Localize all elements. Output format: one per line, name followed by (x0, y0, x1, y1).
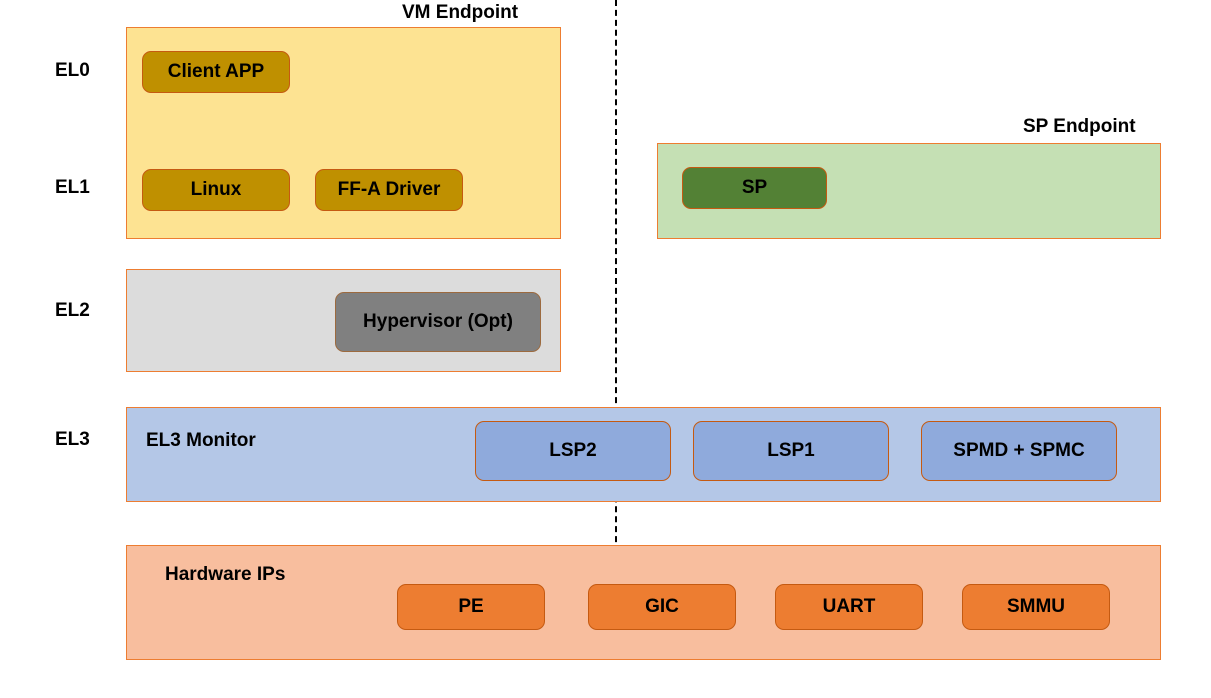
box-spmd-spmc[interactable]: SPMD + SPMC (921, 421, 1117, 481)
box-uart[interactable]: UART (775, 584, 923, 630)
box-hypervisor[interactable]: Hypervisor (Opt) (335, 292, 541, 352)
box-ffa-driver[interactable]: FF-A Driver (315, 169, 463, 211)
el3-panel: EL3 Monitor LSP2 LSP1 SPMD + SPMC (126, 407, 1161, 502)
el-label-el0: EL0 (55, 60, 90, 82)
box-smmu[interactable]: SMMU (962, 584, 1110, 630)
el-label-el2: EL2 (55, 300, 90, 322)
el-label-el1: EL1 (55, 177, 90, 199)
box-linux[interactable]: Linux (142, 169, 290, 211)
hardware-ips-title: Hardware IPs (165, 564, 285, 586)
vm-endpoint-panel: Client APP Linux FF-A Driver (126, 27, 561, 239)
architecture-diagram: VM Endpoint SP Endpoint EL0 EL1 EL2 EL3 … (0, 0, 1211, 698)
sp-endpoint-caption: SP Endpoint (1023, 116, 1136, 138)
vm-endpoint-caption: VM Endpoint (402, 2, 518, 24)
el-label-el3: EL3 (55, 429, 90, 451)
box-sp[interactable]: SP (682, 167, 827, 209)
box-client-app[interactable]: Client APP (142, 51, 290, 93)
el3-monitor-title: EL3 Monitor (146, 430, 256, 452)
hardware-ips-panel: Hardware IPs PE GIC UART SMMU (126, 545, 1161, 660)
el2-panel: Hypervisor (Opt) (126, 269, 561, 372)
box-gic[interactable]: GIC (588, 584, 736, 630)
box-pe[interactable]: PE (397, 584, 545, 630)
sp-endpoint-panel: SP (657, 143, 1161, 239)
box-lsp1[interactable]: LSP1 (693, 421, 889, 481)
box-lsp2[interactable]: LSP2 (475, 421, 671, 481)
